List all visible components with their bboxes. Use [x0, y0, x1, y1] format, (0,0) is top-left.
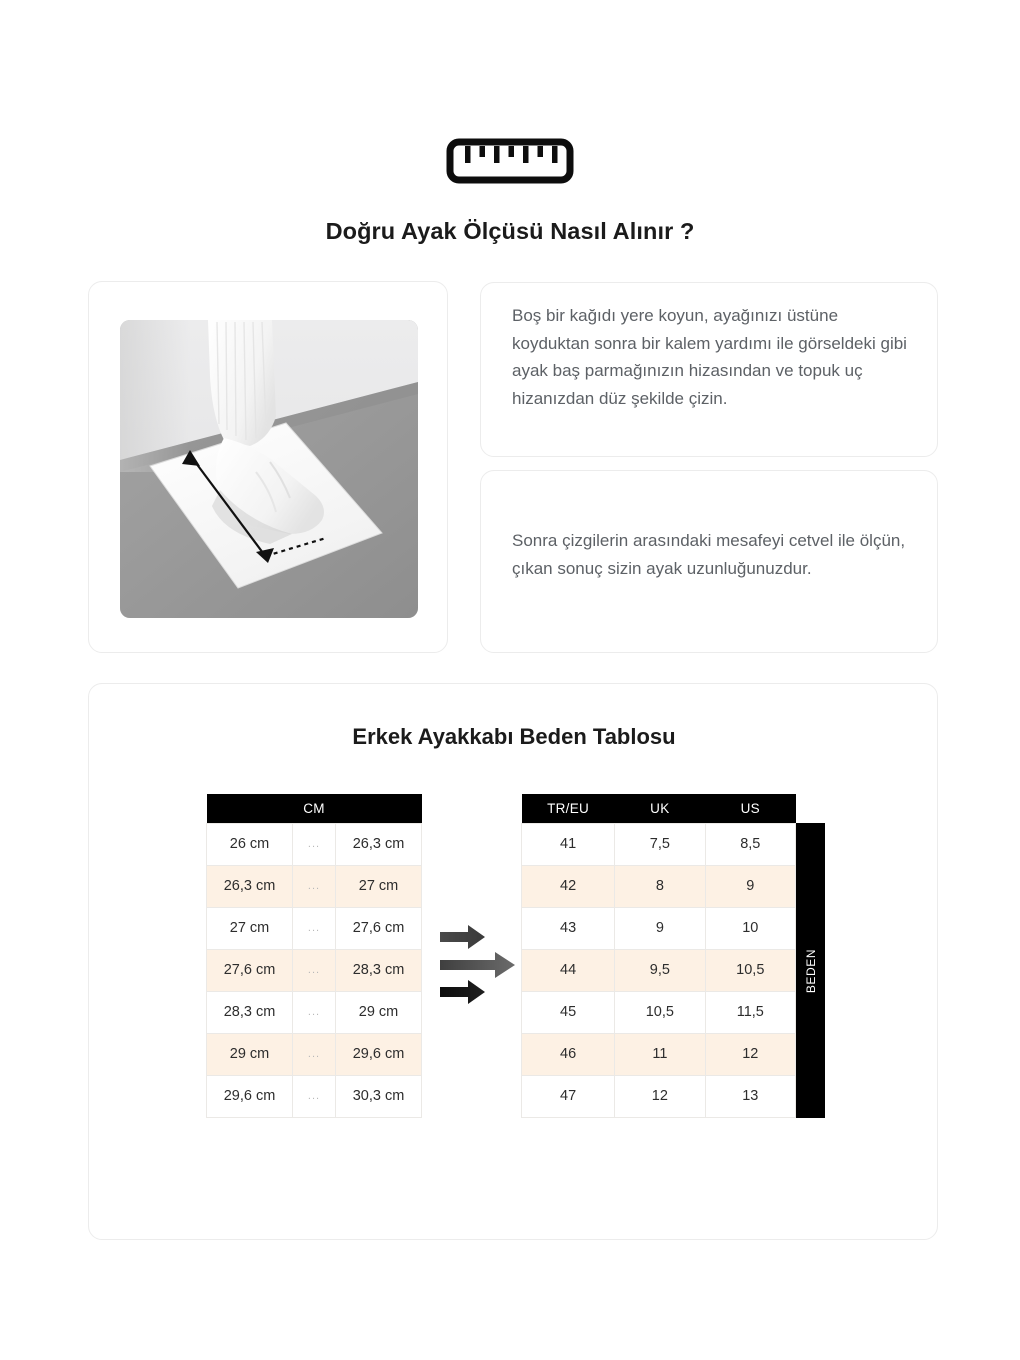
- cm-from: 27 cm: [207, 907, 293, 949]
- cm-sep: ...: [293, 991, 336, 1033]
- instruction-card-2: Sonra çizgilerin arasındaki mesafeyi cet…: [480, 470, 938, 653]
- table-row: 41 7,5 8,5: [522, 823, 796, 865]
- cm-to: 29 cm: [336, 991, 422, 1033]
- cell-uk: 10,5: [615, 991, 705, 1033]
- table-row: 26 cm ... 26,3 cm: [207, 823, 422, 865]
- cm-from: 28,3 cm: [207, 991, 293, 1033]
- cell-us: 12: [705, 1033, 795, 1075]
- size-conversion-table: TR/EU UK US 41 7,5 8,5 42 8 9: [521, 794, 796, 1118]
- instruction-text-2: Sonra çizgilerin arasındaki mesafeyi cet…: [512, 527, 909, 582]
- header-tr-eu: TR/EU: [522, 794, 615, 823]
- cm-table-header-row: CM: [207, 794, 422, 823]
- header-us: US: [705, 794, 795, 823]
- cell-us: 13: [705, 1075, 795, 1117]
- beden-side-bar: BEDEN: [796, 823, 825, 1118]
- table-row: 27 cm ... 27,6 cm: [207, 907, 422, 949]
- table-row: 46 11 12: [522, 1033, 796, 1075]
- table-row: 45 10,5 11,5: [522, 991, 796, 1033]
- cm-sep: ...: [293, 865, 336, 907]
- instructions-section: Boş bir kağıdı yere koyun, ayağınızı üst…: [88, 281, 938, 653]
- cell-uk: 9: [615, 907, 705, 949]
- cell-uk: 12: [615, 1075, 705, 1117]
- table-row: 42 8 9: [522, 865, 796, 907]
- table-row: 26,3 cm ... 27 cm: [207, 865, 422, 907]
- cm-header-cell: CM: [207, 794, 422, 823]
- cm-from: 29 cm: [207, 1033, 293, 1075]
- cm-to: 30,3 cm: [336, 1075, 422, 1117]
- cell-eu: 47: [522, 1075, 615, 1117]
- cm-from: 26,3 cm: [207, 865, 293, 907]
- cell-uk: 9,5: [615, 949, 705, 991]
- cm-to: 28,3 cm: [336, 949, 422, 991]
- table-row: 47 12 13: [522, 1075, 796, 1117]
- cell-us: 10,5: [705, 949, 795, 991]
- cell-eu: 46: [522, 1033, 615, 1075]
- cm-to: 29,6 cm: [336, 1033, 422, 1075]
- size-guide-page: Doğru Ayak Ölçüsü Nasıl Alınır ?: [0, 0, 1020, 1360]
- instruction-card-1: Boş bir kağıdı yere koyun, ayağınızı üst…: [480, 282, 938, 457]
- ruler-icon-container: [0, 138, 1020, 189]
- size-table-header-row: TR/EU UK US: [522, 794, 796, 823]
- cell-uk: 11: [615, 1033, 705, 1075]
- cm-sep: ...: [293, 949, 336, 991]
- foot-measure-photo: [120, 320, 418, 618]
- ruler-icon: [446, 138, 574, 189]
- size-tables-wrapper: CM 26 cm ... 26,3 cm 26,3 cm ... 27 cm: [89, 794, 939, 1134]
- cell-us: 10: [705, 907, 795, 949]
- table-row: 28,3 cm ... 29 cm: [207, 991, 422, 1033]
- cell-us: 11,5: [705, 991, 795, 1033]
- page-title: Doğru Ayak Ölçüsü Nasıl Alınır ?: [0, 218, 1020, 245]
- cell-eu: 43: [522, 907, 615, 949]
- instruction-text-1: Boş bir kağıdı yere koyun, ayağınızı üst…: [512, 302, 909, 412]
- cm-from: 26 cm: [207, 823, 293, 865]
- cm-from: 29,6 cm: [207, 1075, 293, 1117]
- size-table-title: Erkek Ayakkabı Beden Tablosu: [89, 724, 939, 750]
- cell-uk: 7,5: [615, 823, 705, 865]
- table-row: 29 cm ... 29,6 cm: [207, 1033, 422, 1075]
- photo-card: [88, 281, 448, 653]
- cell-eu: 41: [522, 823, 615, 865]
- cell-uk: 8: [615, 865, 705, 907]
- cm-to: 27,6 cm: [336, 907, 422, 949]
- cm-table: CM 26 cm ... 26,3 cm 26,3 cm ... 27 cm: [206, 794, 422, 1118]
- cm-to: 26,3 cm: [336, 823, 422, 865]
- header-uk: UK: [615, 794, 705, 823]
- cell-us: 9: [705, 865, 795, 907]
- table-row: 29,6 cm ... 30,3 cm: [207, 1075, 422, 1117]
- table-row: 27,6 cm ... 28,3 cm: [207, 949, 422, 991]
- cell-eu: 45: [522, 991, 615, 1033]
- size-table-card: Erkek Ayakkabı Beden Tablosu CM 26 cm ..…: [88, 683, 938, 1240]
- cm-sep: ...: [293, 823, 336, 865]
- cell-eu: 42: [522, 865, 615, 907]
- cell-eu: 44: [522, 949, 615, 991]
- cm-sep: ...: [293, 907, 336, 949]
- cm-to: 27 cm: [336, 865, 422, 907]
- cm-from: 27,6 cm: [207, 949, 293, 991]
- cm-sep: ...: [293, 1033, 336, 1075]
- table-row: 43 9 10: [522, 907, 796, 949]
- cm-sep: ...: [293, 1075, 336, 1117]
- table-row: 44 9,5 10,5: [522, 949, 796, 991]
- beden-label: BEDEN: [804, 948, 818, 992]
- cell-us: 8,5: [705, 823, 795, 865]
